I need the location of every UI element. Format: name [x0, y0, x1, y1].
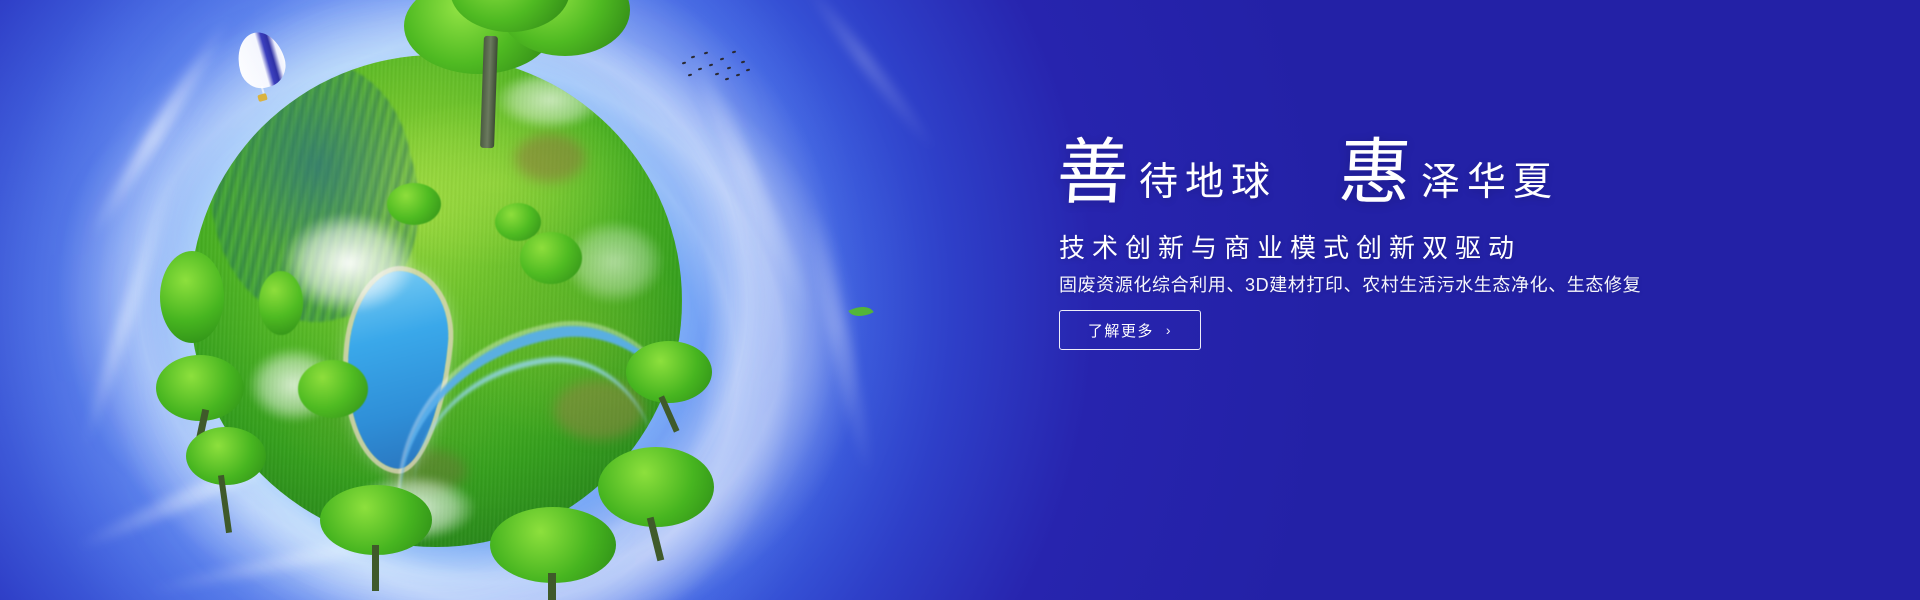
headline-small-text-2: 泽华夏 [1421, 163, 1559, 206]
balloon-envelope [231, 27, 291, 94]
rim-tree [186, 427, 272, 547]
globe-soil-patch [515, 134, 585, 182]
leaf-icon [848, 301, 874, 323]
hero-banner: 善 待地球 惠 泽华夏 技术创新与商业模式创新双驱动 固废资源化综合利用、3D建… [0, 0, 1920, 600]
subtitle: 技术创新与商业模式创新双驱动 [1059, 228, 1521, 265]
rim-tree [626, 341, 716, 437]
tree-on-globe [404, 0, 644, 138]
headline: 善 待地球 惠 泽华夏 [1057, 140, 1559, 206]
learn-more-button[interactable]: 了解更多 › [1059, 310, 1201, 350]
cloud-wisp [797, 0, 943, 158]
rim-tree [160, 251, 230, 361]
globe-bush [520, 232, 582, 284]
bird-flock [680, 48, 750, 84]
globe-bush [259, 271, 303, 335]
rim-tree [320, 485, 440, 595]
rim-tree [598, 447, 718, 567]
globe-bush [387, 183, 441, 225]
hero-text-block: 善 待地球 惠 泽华夏 技术创新与商业模式创新双驱动 固废资源化综合利用、3D建… [1057, 0, 1757, 600]
headline-big-char-1: 善 [1055, 140, 1130, 206]
headline-small-text-1: 待地球 [1139, 163, 1277, 206]
description: 固废资源化综合利用、3D建材打印、农村生活污水生态净化、生态修复 [1059, 271, 1641, 297]
headline-group-2: 惠 泽华夏 [1339, 140, 1559, 206]
chevron-right-icon: › [1166, 322, 1172, 338]
headline-group-1: 善 待地球 [1057, 140, 1277, 206]
balloon-basket [257, 93, 268, 102]
hot-air-balloon [238, 32, 284, 110]
cloud-wisp [801, 201, 879, 479]
headline-big-char-2: 惠 [1337, 140, 1412, 206]
learn-more-label: 了解更多 [1088, 320, 1154, 341]
globe-bush [298, 360, 368, 418]
